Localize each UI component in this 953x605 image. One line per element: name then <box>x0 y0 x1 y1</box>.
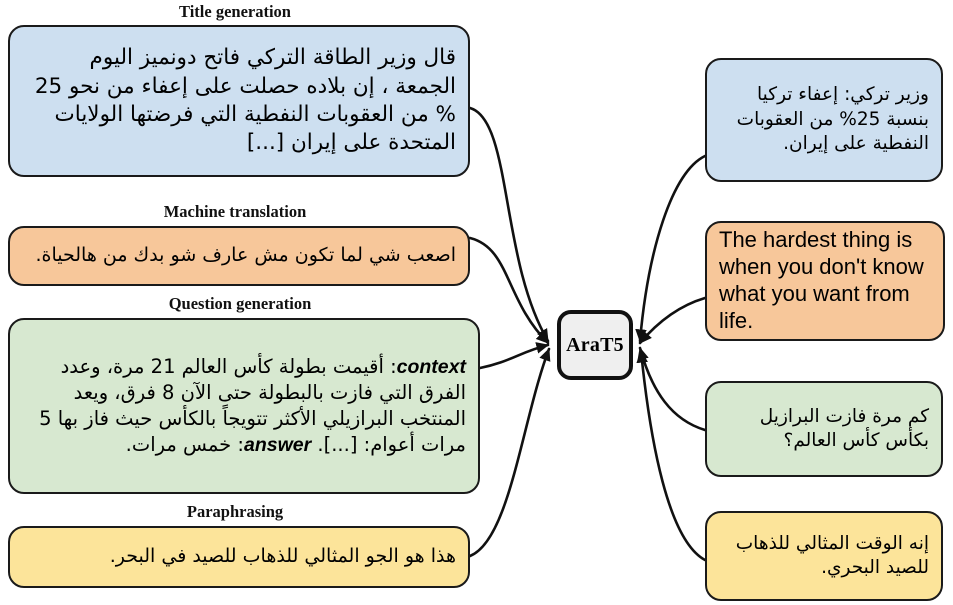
edge-question-generation-in <box>480 345 548 368</box>
input-box-paraphrasing[interactable]: هذا هو الجو المثالي للذهاب للصيد في البح… <box>8 526 470 588</box>
output-text-question-generation: كم مرة فازت البرازيل بكأس كأس العالم؟ <box>707 403 941 456</box>
output-box-paraphrasing[interactable]: إنه الوقت المثالي للذهاب للصيد البحري. <box>705 511 943 601</box>
edge-title-generation-in <box>470 108 548 341</box>
answer-keyword-label: answer <box>244 434 311 456</box>
model-node-arat5[interactable]: AraT5 <box>557 310 633 380</box>
input-box-machine-translation[interactable]: اصعب شي لما تكون مش عارف شو بدك من هالحي… <box>8 226 470 286</box>
diagram-canvas: Title generation Machine translation Que… <box>0 0 953 605</box>
caption-question-generation: Question generation <box>0 294 480 314</box>
edge-paraphrasing-in <box>470 349 549 556</box>
input-text-question-generation: context: أقيمت بطولة كأس العالم 21 مرة، … <box>10 352 478 461</box>
caption-machine-translation: Machine translation <box>0 202 470 222</box>
input-box-question-generation[interactable]: context: أقيمت بطولة كأس العالم 21 مرة، … <box>8 318 480 494</box>
edge-paraphrasing-out <box>641 351 705 560</box>
edge-machine-translation-out <box>640 298 705 343</box>
output-box-question-generation[interactable]: كم مرة فازت البرازيل بكأس كأس العالم؟ <box>705 381 943 477</box>
caption-title-generation: Title generation <box>0 2 470 22</box>
edge-machine-translation-in <box>470 238 548 343</box>
output-text-title-generation: وزير تركي: إعفاء تركيا بنسبة 25% من العق… <box>707 81 941 158</box>
input-text-machine-translation: اصعب شي لما تكون مش عارف شو بدك من هالحي… <box>10 241 468 270</box>
model-node-label: AraT5 <box>566 334 624 357</box>
caption-paraphrasing: Paraphrasing <box>0 502 470 522</box>
context-keyword-label: context <box>397 356 466 378</box>
input-text-paraphrasing: هذا هو الجو المثالي للذهاب للصيد في البح… <box>10 542 468 571</box>
output-box-title-generation[interactable]: وزير تركي: إعفاء تركيا بنسبة 25% من العق… <box>705 58 943 182</box>
output-box-machine-translation[interactable]: The hardest thing is when you don't know… <box>705 221 945 341</box>
output-text-machine-translation: The hardest thing is when you don't know… <box>707 225 943 336</box>
input-box-title-generation[interactable]: قال وزير الطاقة التركي فاتح دونميز اليوم… <box>8 25 470 177</box>
edge-title-generation-out <box>640 156 705 341</box>
output-text-paraphrasing: إنه الوقت المثالي للذهاب للصيد البحري. <box>707 530 941 583</box>
input-text-title-generation: قال وزير الطاقة التركي فاتح دونميز اليوم… <box>10 42 468 160</box>
question-generation-answer-text: : خمس مرات. <box>126 433 244 456</box>
edge-question-generation-out <box>640 348 705 430</box>
